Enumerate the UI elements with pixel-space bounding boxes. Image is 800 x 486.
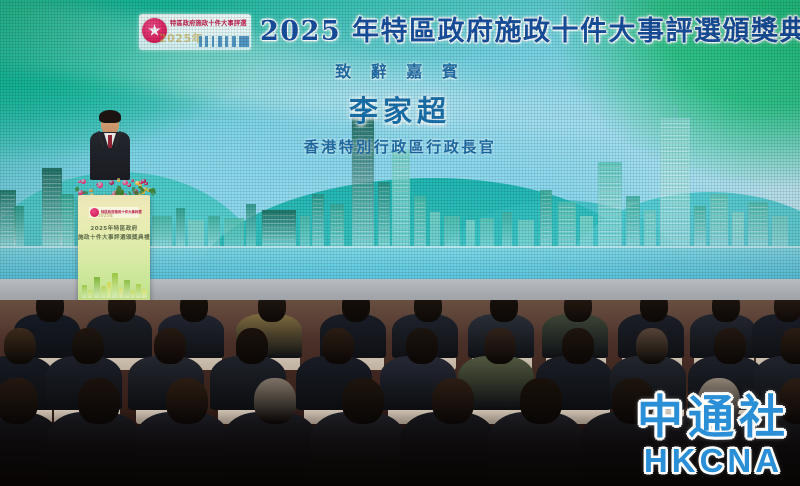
speaker-figure — [88, 104, 132, 180]
audience-head — [636, 328, 668, 364]
audience-head — [780, 328, 800, 364]
podium-title-line-2: 施政十件大事評選頒獎典禮 — [78, 233, 150, 241]
podium-event-logo: 特區政府施政十件大事評選 2025年 — [89, 207, 139, 218]
audience-head — [564, 300, 592, 322]
audience-head — [712, 300, 740, 322]
flower-bloom — [109, 180, 114, 185]
flower-bloom — [97, 182, 103, 188]
flower-bloom — [89, 189, 93, 193]
speaker-hair — [99, 110, 121, 123]
audience-head — [236, 328, 268, 364]
flower-bloom — [127, 183, 131, 187]
podium-skyline-building — [94, 277, 100, 299]
audience-head — [562, 328, 594, 364]
flower-leaf — [131, 186, 134, 190]
audience-head — [640, 300, 668, 322]
flower-leaf — [128, 190, 131, 194]
audience-head — [774, 300, 800, 322]
flower-bloom — [81, 179, 87, 185]
podium-skyline-graphic — [78, 261, 150, 303]
flower-bloom — [131, 179, 134, 182]
audience-head — [4, 328, 36, 364]
podium-skyline-building — [107, 282, 111, 299]
flower-bloom — [117, 178, 121, 182]
audience-head — [154, 328, 186, 364]
podium: 特區政府施政十件大事評選 2025年 2025年特區政府 施政十件大事評選頒獎典… — [72, 175, 156, 303]
audience-head — [36, 300, 64, 322]
audience-head — [72, 328, 104, 364]
audience-head — [322, 328, 354, 364]
audience-head — [258, 300, 286, 322]
podium-logo-year: 2025年 — [98, 213, 113, 219]
agency-watermark: 中通社 HKCNA — [637, 392, 790, 478]
photo-canvas: 特區政府施政十件大事評選 2025年 2025 年特區政府施政十件大事評選頒獎典… — [0, 0, 800, 486]
podium-title-line-1: 2025年特區政府 — [78, 224, 150, 232]
podium-skyline-building — [136, 284, 141, 299]
podium-front-panel: 特區政府施政十件大事評選 2025年 2025年特區政府 施政十件大事評選頒獎典… — [78, 195, 150, 303]
audience-head — [180, 300, 208, 322]
podium-skyline-building — [112, 273, 118, 299]
flower-bloom — [141, 179, 146, 184]
audience-head — [414, 300, 442, 322]
audience-head — [406, 328, 438, 364]
audience-head — [342, 300, 370, 322]
speaker-tie — [108, 135, 112, 148]
audience-head — [484, 328, 516, 364]
audience-head — [108, 300, 136, 322]
podium-skyline-building — [124, 280, 130, 299]
podium-skyline-building — [82, 285, 87, 299]
audience-head — [490, 300, 518, 322]
audience-head — [714, 328, 746, 364]
watermark-english: HKCNA — [637, 444, 790, 478]
watermark-chinese: 中通社 — [637, 392, 790, 442]
